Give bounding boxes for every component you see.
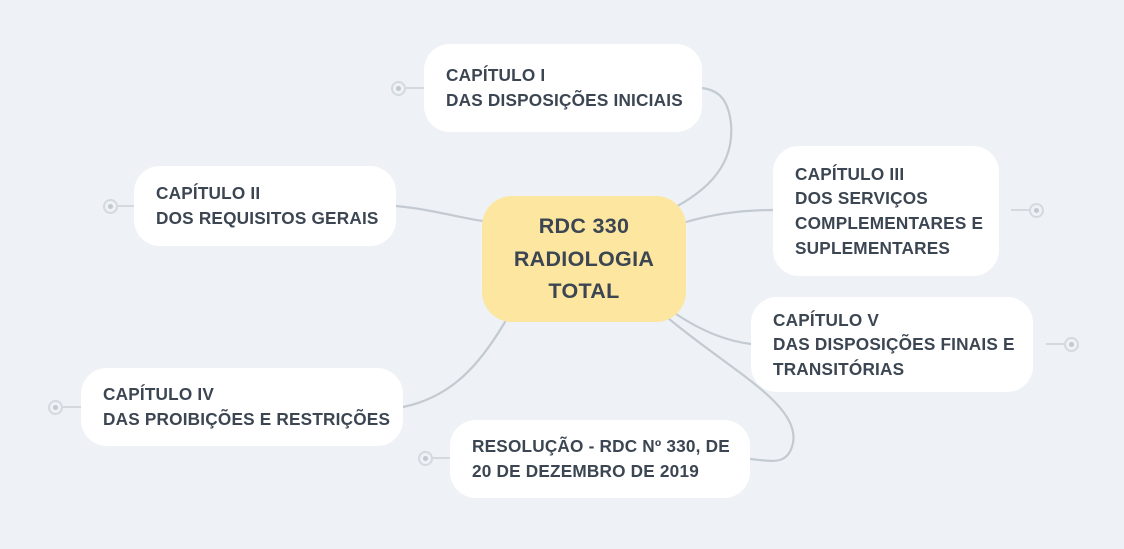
node-capitulo-iv-line-1: CAPÍTULO IV [103,382,381,407]
node-resolucao-line-1: RESOLUÇÃO - RDC Nº 330, DE [472,434,728,459]
node-resolucao-line-2: 20 DE DEZEMBRO DE 2019 [472,459,728,484]
connector-capitulo-iv[interactable] [48,396,81,418]
node-capitulo-iii-line-1: CAPÍTULO III [795,162,977,187]
circle-dot-icon [391,81,406,96]
node-capitulo-ii[interactable]: CAPÍTULO II DOS REQUISITOS GERAIS [134,166,396,246]
connector-stub [1011,209,1029,211]
node-capitulo-v[interactable]: CAPÍTULO V DAS DISPOSIÇÕES FINAIS E TRAN… [751,297,1033,392]
edge-center-cap3 [686,210,773,222]
circle-dot-icon [418,451,433,466]
node-capitulo-ii-line-1: CAPÍTULO II [156,181,374,206]
connector-capitulo-i[interactable] [391,77,426,99]
node-capitulo-v-line-1: CAPÍTULO V [773,308,1011,333]
circle-dot-icon [1029,203,1044,218]
connector-stub [1046,343,1064,345]
central-node-line-1: RDC 330 [539,210,630,243]
node-capitulo-ii-line-2: DOS REQUISITOS GERAIS [156,206,374,231]
node-capitulo-iii-line-3: COMPLEMENTARES E [795,211,977,236]
node-capitulo-v-line-2: DAS DISPOSIÇÕES FINAIS E [773,332,1011,357]
node-capitulo-i[interactable]: CAPÍTULO I DAS DISPOSIÇÕES INICIAIS [424,44,702,132]
node-capitulo-iii-line-2: DOS SERVIÇOS [795,186,977,211]
connector-capitulo-iii[interactable] [1011,199,1044,221]
mindmap-canvas: RDC 330 RADIOLOGIA TOTAL CAPÍTULO I DAS … [0,0,1124,549]
circle-dot-icon [1064,337,1079,352]
central-node[interactable]: RDC 330 RADIOLOGIA TOTAL [482,196,686,322]
node-capitulo-iii-line-4: SUPLEMENTARES [795,236,977,261]
central-node-line-3: TOTAL [548,275,619,308]
node-capitulo-iv-line-2: DAS PROIBIÇÕES E RESTRIÇÕES [103,407,381,432]
circle-dot-icon [48,400,63,415]
connector-resolucao[interactable] [418,447,452,469]
edge-center-cap5 [676,314,751,344]
node-capitulo-v-line-3: TRANSITÓRIAS [773,357,1011,382]
node-resolucao[interactable]: RESOLUÇÃO - RDC Nº 330, DE 20 DE DEZEMBR… [450,420,750,498]
connector-capitulo-v[interactable] [1046,333,1079,355]
node-capitulo-iv[interactable]: CAPÍTULO IV DAS PROIBIÇÕES E RESTRIÇÕES [81,368,403,446]
node-capitulo-i-line-1: CAPÍTULO I [446,63,680,88]
connector-stub [63,406,81,408]
node-capitulo-iii[interactable]: CAPÍTULO III DOS SERVIÇOS COMPLEMENTARES… [773,146,999,276]
edge-center-cap4 [403,322,505,407]
central-node-line-2: RADIOLOGIA [514,243,654,276]
connector-capitulo-ii[interactable] [103,195,136,217]
edge-center-cap2 [396,206,483,221]
connector-stub [406,87,426,89]
node-capitulo-i-line-2: DAS DISPOSIÇÕES INICIAIS [446,88,680,113]
circle-dot-icon [103,199,118,214]
